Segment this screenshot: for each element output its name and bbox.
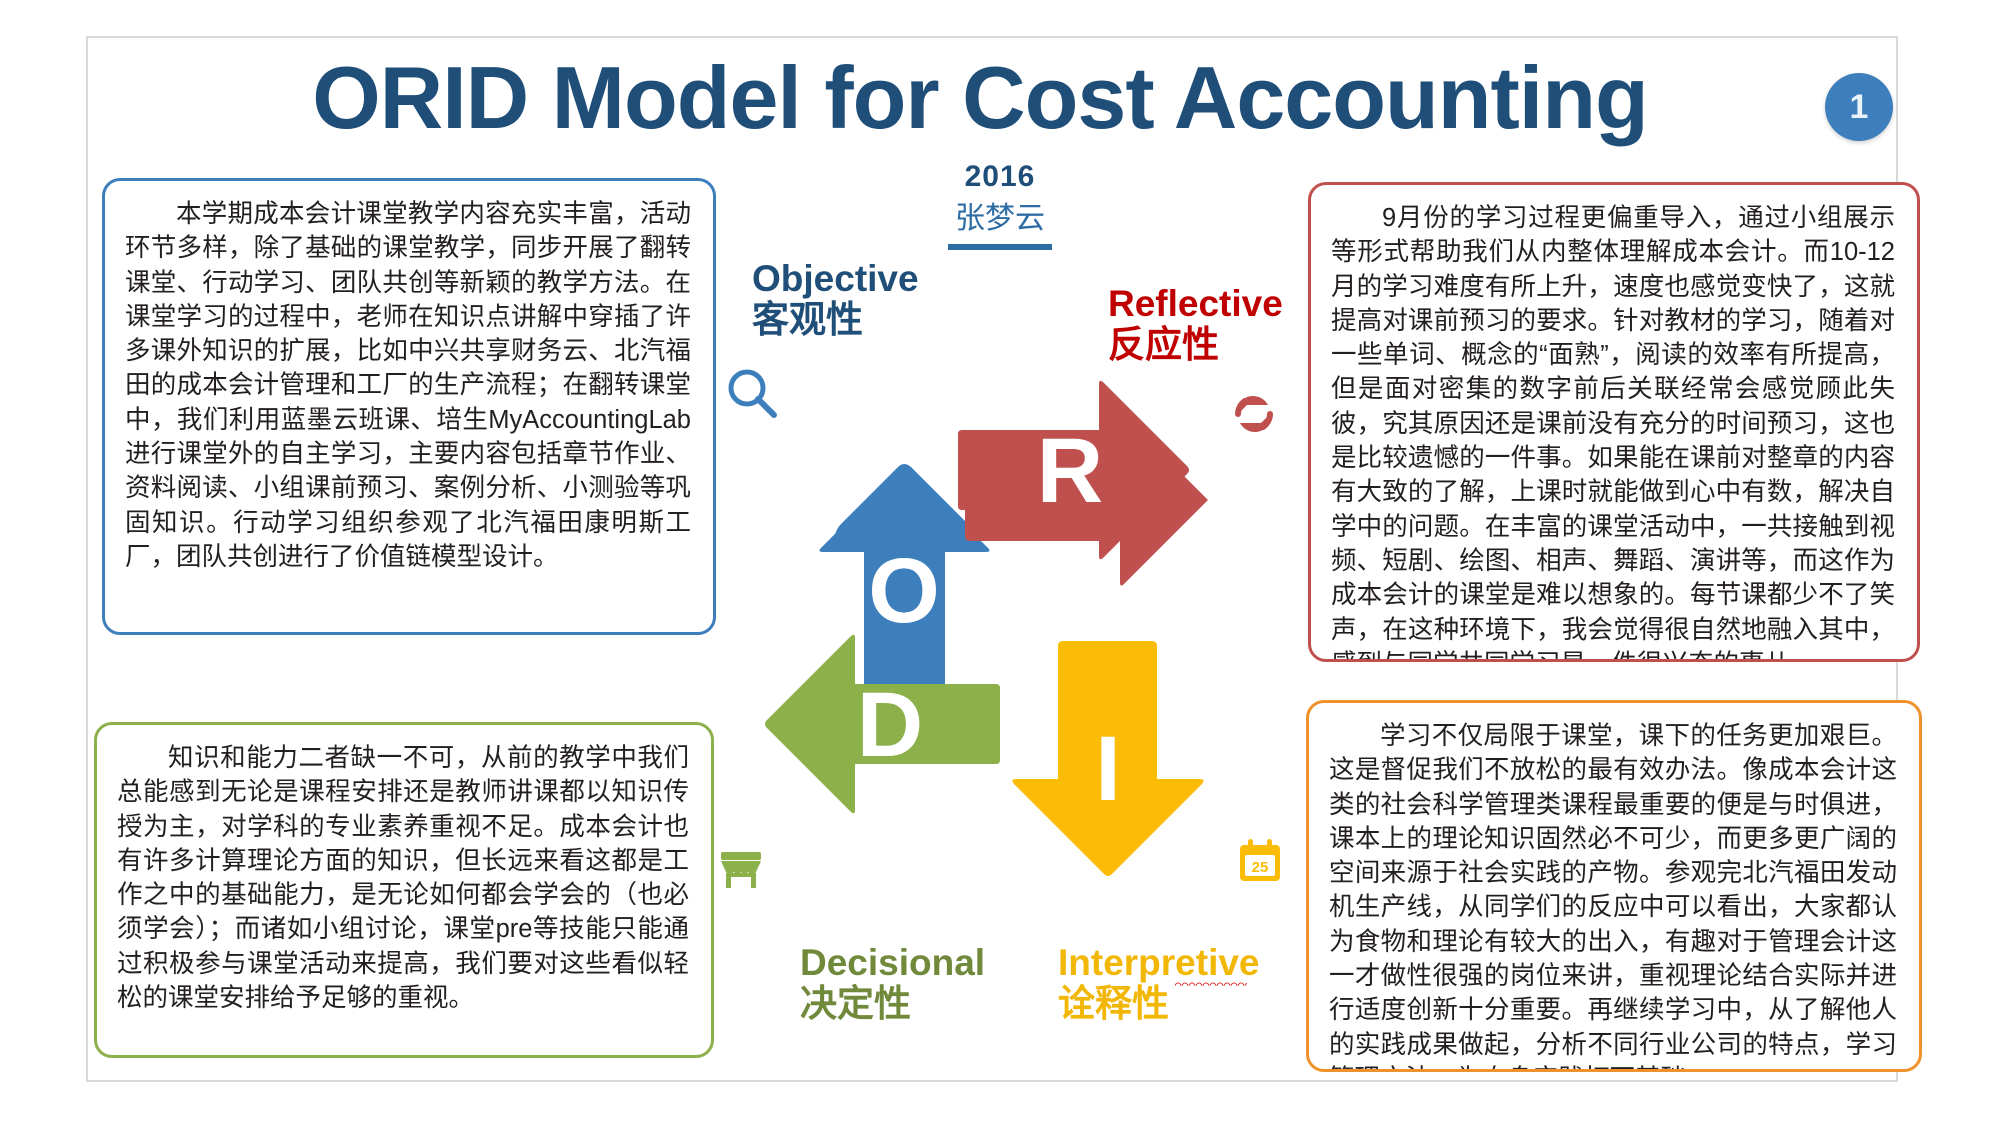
center-header: 2016 张梦云 xyxy=(900,160,1100,250)
quadrant-label-interpretive-zh: 诠释性 xyxy=(1058,983,1260,1024)
quadrant-label-decisional-en: Decisional xyxy=(800,942,985,983)
arrow-letter-r: R xyxy=(1037,420,1103,522)
quadrant-label-objective-en: Objective xyxy=(752,258,919,299)
orid-arrow-diagram: O R D I xyxy=(700,340,1320,920)
textbox-decisional: 知识和能力二者缺一不可，从前的教学中我们总能感到无论是课程安排还是教师讲课都以知… xyxy=(94,722,714,1058)
textbox-objective-text: 本学期成本会计课堂教学内容充实丰富，活动环节多样，除了基础的课堂教学，同步开展了… xyxy=(125,197,691,574)
author-underline xyxy=(948,244,1052,250)
textbox-decisional-text: 知识和能力二者缺一不可，从前的教学中我们总能感到无论是课程安排还是教师讲课都以知… xyxy=(117,741,689,1015)
quadrant-label-objective: Objective 客观性 xyxy=(752,258,919,341)
quadrant-label-decisional-zh: 决定性 xyxy=(800,983,985,1024)
arrow-reflective: R xyxy=(958,381,1208,586)
quadrant-label-interpretive: Interpretive 诠释性 xyxy=(1058,942,1260,1025)
arrow-letter-d: D xyxy=(857,674,923,776)
textbox-reflective: 9月份的学习过程更偏重导入，通过小组展示等形式帮助我们从内整体理解成本会计。而1… xyxy=(1308,182,1920,662)
quadrant-label-objective-zh: 客观性 xyxy=(752,299,919,340)
textbox-interpretive-text: 学习不仅局限于课堂，课下的任务更加艰巨。这是督促我们不放松的最有效办法。像成本会… xyxy=(1329,719,1897,1072)
textbox-reflective-text: 9月份的学习过程更偏重导入，通过小组展示等形式帮助我们从内整体理解成本会计。而1… xyxy=(1331,201,1895,662)
page-number-badge: 1 xyxy=(1825,73,1893,141)
year-label: 2016 xyxy=(900,160,1100,195)
textbox-interpretive: 学习不仅局限于课堂，课下的任务更加艰巨。这是督促我们不放松的最有效办法。像成本会… xyxy=(1306,700,1922,1072)
arrow-letter-o: O xyxy=(868,540,940,642)
quadrant-label-reflective-en: Reflective xyxy=(1108,283,1283,324)
arrow-interpretive: I xyxy=(1012,641,1203,876)
author-label: 张梦云 xyxy=(900,199,1100,238)
arrow-letter-i: I xyxy=(1095,718,1121,820)
slide-canvas: ORID Model for Cost Accounting 1 2016 张梦… xyxy=(0,0,2000,1125)
page-title: ORID Model for Cost Accounting xyxy=(200,52,1760,144)
quadrant-label-decisional: Decisional 决定性 xyxy=(800,942,985,1025)
quadrant-label-interpretive-en: Interpretive xyxy=(1058,942,1260,983)
textbox-objective: 本学期成本会计课堂教学内容充实丰富，活动环节多样，除了基础的课堂教学，同步开展了… xyxy=(102,178,716,635)
